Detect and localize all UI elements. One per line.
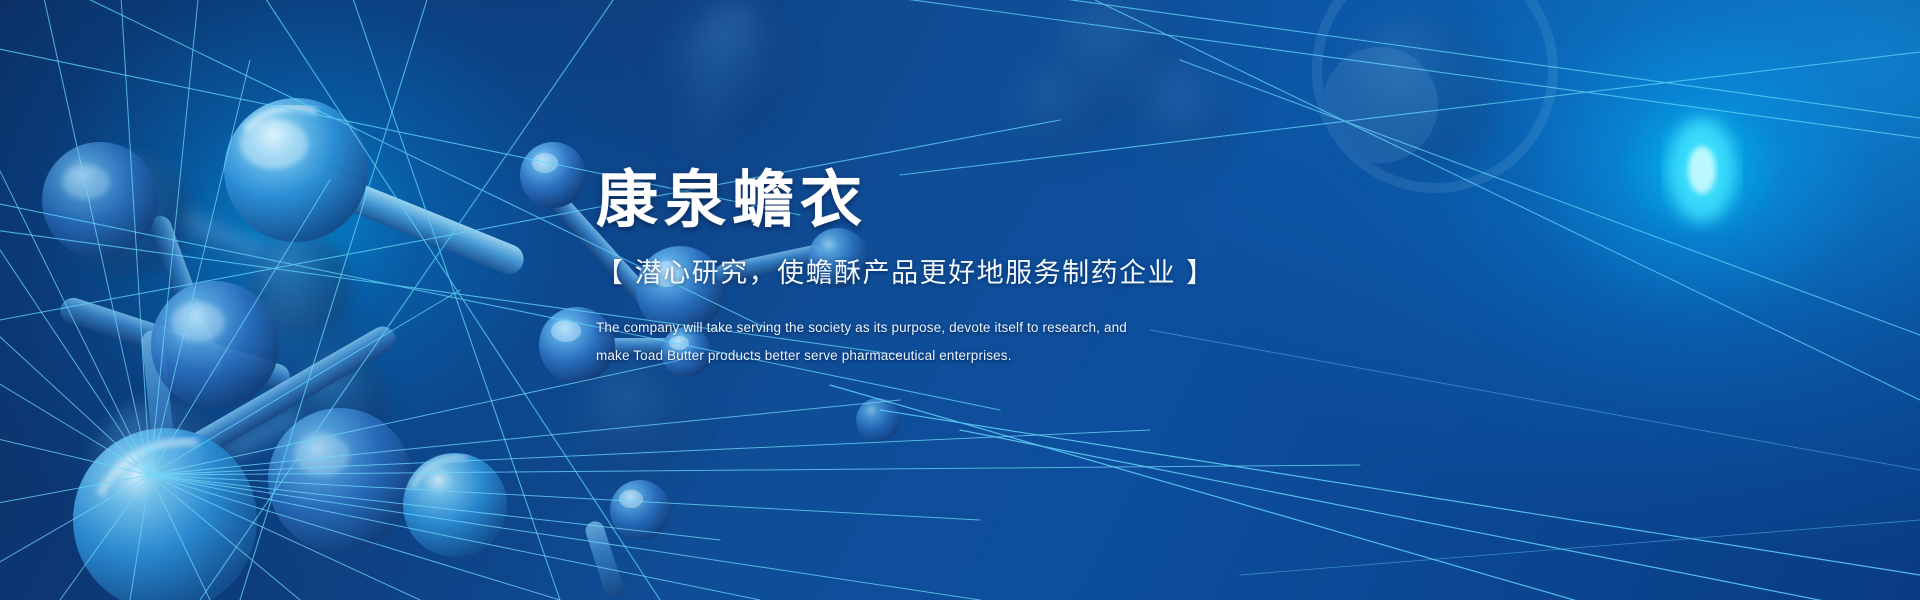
banner-slogan: 【 潜心研究，使蟾酥产品更好地服务制药企业 】 bbox=[596, 251, 1496, 290]
page-title: 康泉蟾衣 bbox=[596, 168, 1496, 231]
english-line-1: The company will take serving the societ… bbox=[596, 314, 1496, 342]
hero-banner: 康泉蟾衣 【 潜心研究，使蟾酥产品更好地服务制药企业 】 The company… bbox=[0, 0, 1920, 600]
english-line-2: make Toad Butter products better serve p… bbox=[596, 342, 1496, 370]
banner-english-description: The company will take serving the societ… bbox=[596, 314, 1496, 369]
banner-text-block: 康泉蟾衣 【 潜心研究，使蟾酥产品更好地服务制药企业 】 The company… bbox=[596, 168, 1496, 370]
cyan-glow-right bbox=[1668, 118, 1736, 222]
